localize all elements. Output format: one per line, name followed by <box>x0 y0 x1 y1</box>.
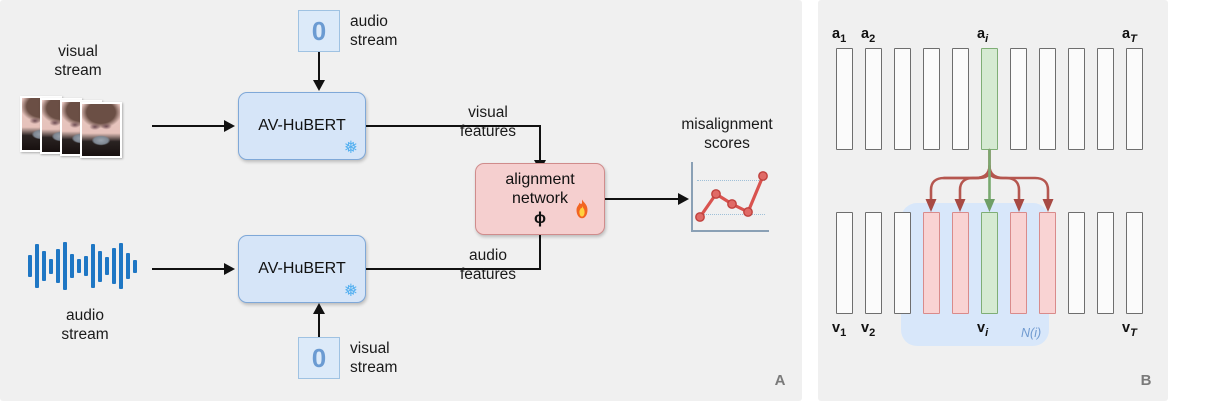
token-label-v2: v2 <box>861 320 875 339</box>
token-label-vi: vi <box>977 320 988 339</box>
token-v-3[interactable] <box>894 212 911 314</box>
zero-audio-box: 0 <box>298 10 340 52</box>
snowflake-icon: ❅ <box>344 139 358 156</box>
alignment-network-line2: network <box>505 189 574 208</box>
arrow-head <box>313 303 325 314</box>
audio-stream-label: audio stream <box>25 306 145 344</box>
alignment-network-line1: alignment <box>505 170 574 189</box>
arrow-audio-to-encoder <box>152 268 226 270</box>
token-label-v1: v1 <box>832 320 846 339</box>
connector-arrow-head <box>1014 199 1025 212</box>
connector-arrow-head <box>1043 199 1054 212</box>
neighborhood-connectors <box>818 0 1168 401</box>
connector-arrow-head <box>926 199 937 212</box>
arrow-head <box>678 193 689 205</box>
token-v-neighbor-right-2[interactable] <box>1039 212 1056 314</box>
arrow-align-to-output <box>605 198 680 200</box>
connector-arrow-head <box>955 199 966 212</box>
video-frame <box>80 102 122 158</box>
zero-visual-label: visual stream <box>350 339 440 377</box>
token-v-T[interactable] <box>1126 212 1143 314</box>
zero-audio-value: 0 <box>312 16 326 47</box>
token-v-2[interactable] <box>865 212 882 314</box>
encoder-top-avhubert[interactable]: AV-HuBERT ❅ <box>238 92 366 160</box>
audio-features-label: audio features <box>438 246 538 284</box>
token-v-i[interactable] <box>981 212 998 314</box>
panel-a-letter: A <box>775 372 786 389</box>
visual-stream-frames <box>20 92 150 162</box>
token-v-neighbor-left-1[interactable] <box>952 212 969 314</box>
alignment-network-box[interactable]: alignment network ϕ <box>475 163 605 235</box>
arrow-visual-to-encoder <box>152 125 226 127</box>
flame-icon <box>574 199 590 223</box>
output-label: misalignment scores <box>662 115 792 153</box>
flame-icon-svg <box>574 199 590 219</box>
arrow-head <box>224 263 235 275</box>
zero-visual-box: 0 <box>298 337 340 379</box>
arrow-head <box>313 80 325 91</box>
snowflake-icon: ❅ <box>344 282 358 299</box>
neighborhood-label: N(i) <box>1021 326 1041 340</box>
line-visual-features-down <box>539 125 541 162</box>
encoder-bottom-label: AV-HuBERT <box>258 260 345 278</box>
zero-visual-value: 0 <box>312 343 326 374</box>
encoder-bottom-avhubert[interactable]: AV-HuBERT ❅ <box>238 235 366 303</box>
arrow-head <box>224 120 235 132</box>
arrow-zero-visual-to-encoder <box>318 314 320 337</box>
token-v-neighbor-right-1[interactable] <box>1010 212 1027 314</box>
token-label-vT: vT <box>1122 320 1137 339</box>
figure-root: visual stream 0 audio stream AV-HuBERT ❅… <box>0 0 1224 401</box>
line-audio-features-up <box>539 231 541 268</box>
visual-features-label: visual features <box>438 103 538 141</box>
token-v-10[interactable] <box>1097 212 1114 314</box>
arrow-zero-audio-to-encoder <box>318 52 320 82</box>
token-v-1[interactable] <box>836 212 853 314</box>
chart-series <box>691 162 769 234</box>
panel-b: a1 a2 ai aT <box>818 0 1168 401</box>
encoder-top-label: AV-HuBERT <box>258 117 345 135</box>
panel-a: visual stream 0 audio stream AV-HuBERT ❅… <box>0 0 802 401</box>
visual-stream-label: visual stream <box>18 42 138 80</box>
zero-audio-label: audio stream <box>350 12 440 50</box>
audio-stream-waveform <box>28 238 143 294</box>
connector-arrow-head <box>984 199 995 212</box>
panel-b-letter: B <box>1141 372 1152 389</box>
alignment-network-symbol: ϕ <box>505 209 574 228</box>
misalignment-scores-chart <box>691 162 769 234</box>
token-v-neighbor-left-2[interactable] <box>923 212 940 314</box>
token-v-9[interactable] <box>1068 212 1085 314</box>
